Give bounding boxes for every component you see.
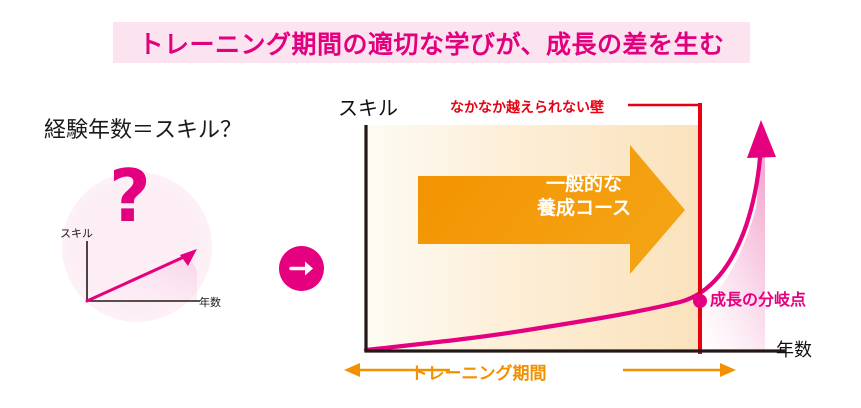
- infographic-canvas: トレーニング期間の適切な学びが、成長の差を生む 経験年数＝スキル？ ? スキル …: [0, 0, 861, 408]
- mini-chart-x-label: 年数: [199, 294, 221, 310]
- mini-chart: スキル 年数: [60, 225, 245, 320]
- course-arrow-label-line1: 一般的な: [466, 172, 702, 196]
- branch-point-label: 成長の分岐点: [710, 286, 806, 310]
- main-chart: スキル 年数 なかなか越えられない壁 成長の分岐点 一般的な 養成コース: [340, 88, 850, 388]
- growth-area-fill: [700, 124, 765, 351]
- main-chart-y-label: スキル: [338, 92, 398, 121]
- course-arrow-label: 一般的な 養成コース: [466, 172, 702, 221]
- branch-point-marker: [693, 294, 707, 308]
- training-span-arrow: [344, 363, 736, 377]
- question-mark-icon: ?: [109, 160, 151, 232]
- page-title: トレーニング期間の適切な学びが、成長の差を生む: [138, 25, 724, 61]
- title-banner: トレーニング期間の適切な学びが、成長の差を生む: [113, 22, 750, 63]
- course-arrow-label-line2: 養成コース: [466, 196, 702, 220]
- transition-arrow-button[interactable]: [279, 246, 324, 291]
- mini-chart-y-label: スキル: [60, 225, 93, 241]
- main-chart-svg: [340, 88, 850, 388]
- arrow-right-icon: [279, 246, 324, 291]
- left-panel-heading: 経験年数＝スキル？: [44, 112, 242, 144]
- wall-label: なかなか越えられない壁: [450, 97, 604, 117]
- main-chart-x-label: 年数: [776, 336, 812, 362]
- growth-curve-arrowhead: [747, 120, 776, 158]
